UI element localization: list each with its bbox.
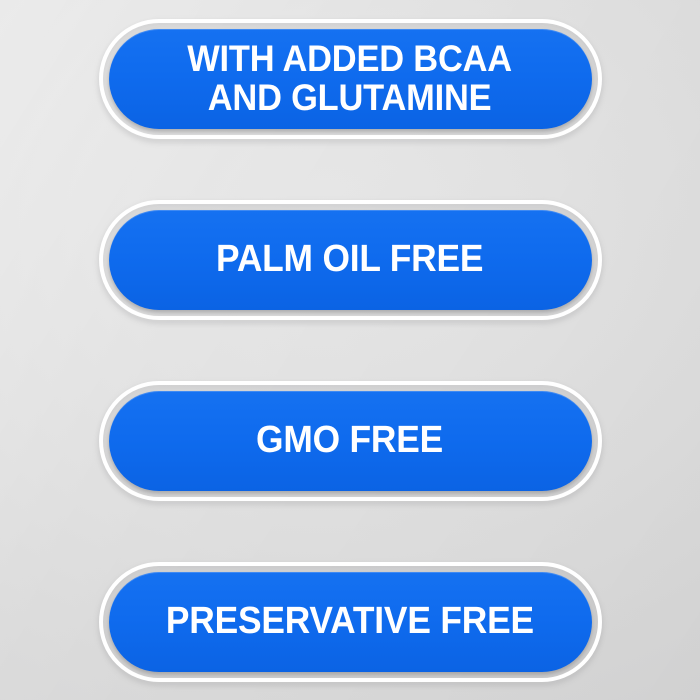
badge-list: WITH ADDED BCAA AND GLUTAMINE PALM OIL F… bbox=[0, 0, 700, 700]
badge-fill: GMO FREE bbox=[109, 391, 592, 491]
badge-fill: PRESERVATIVE FREE bbox=[109, 572, 592, 672]
badge-label: PRESERVATIVE FREE bbox=[166, 601, 534, 641]
badge-preservative-free[interactable]: PRESERVATIVE FREE bbox=[99, 562, 602, 682]
feature-badge-graphic: WITH ADDED BCAA AND GLUTAMINE PALM OIL F… bbox=[0, 0, 700, 700]
badge-gmo-free[interactable]: GMO FREE bbox=[99, 381, 602, 501]
badge-fill: WITH ADDED BCAA AND GLUTAMINE bbox=[109, 29, 592, 129]
badge-label: WITH ADDED BCAA AND GLUTAMINE bbox=[188, 40, 513, 117]
badge-label: GMO FREE bbox=[256, 420, 443, 460]
badge-fill: PALM OIL FREE bbox=[109, 210, 592, 310]
badge-bcaa-glutamine[interactable]: WITH ADDED BCAA AND GLUTAMINE bbox=[99, 19, 602, 139]
badge-palm-oil-free[interactable]: PALM OIL FREE bbox=[99, 200, 602, 320]
badge-label: PALM OIL FREE bbox=[216, 239, 483, 279]
